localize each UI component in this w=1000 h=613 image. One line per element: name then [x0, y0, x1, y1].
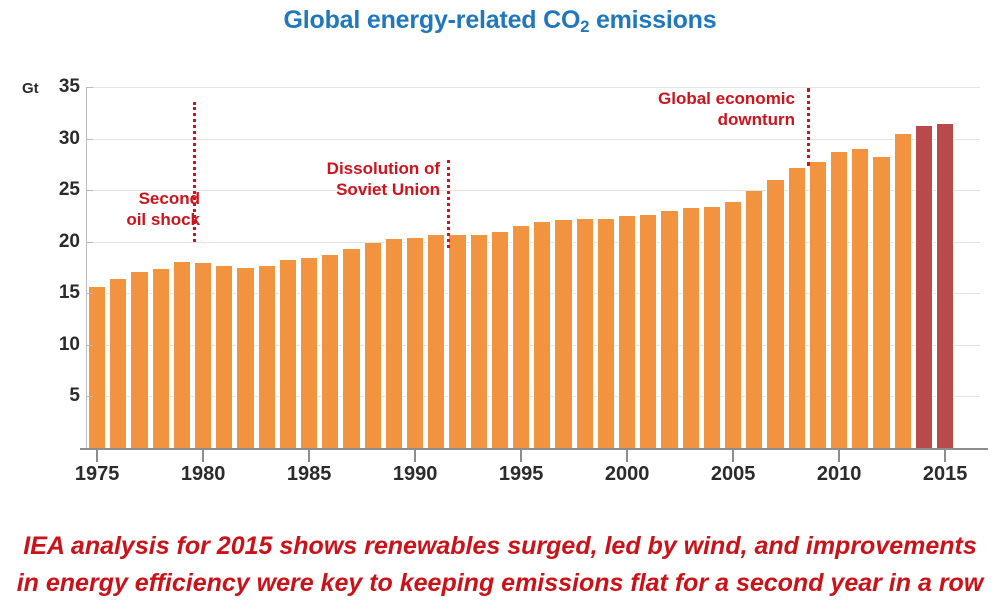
x-tick-mark	[838, 450, 840, 462]
x-tick-mark	[944, 450, 946, 462]
caption-line-2: in energy efficiency were key to keeping…	[0, 565, 1000, 602]
y-tick-mark	[86, 87, 93, 88]
bar-1987[interactable]	[342, 249, 360, 448]
bar-1990[interactable]	[406, 238, 424, 448]
bar-1988[interactable]	[364, 243, 382, 448]
x-tick-label: 2005	[711, 463, 756, 486]
y-tick-label: 15	[46, 282, 80, 304]
bar-2006[interactable]	[745, 191, 763, 448]
bar-2012[interactable]	[872, 157, 890, 448]
x-tick-mark	[626, 450, 628, 462]
x-tick-label: 1985	[287, 463, 332, 486]
y-tick-mark	[86, 396, 93, 397]
x-tick-mark	[732, 450, 734, 462]
bar-2004[interactable]	[703, 207, 721, 448]
bar-1998[interactable]	[576, 219, 594, 448]
bar-2002[interactable]	[660, 211, 678, 448]
chart-page: Global energy-related CO2 emissions Gt 5…	[0, 0, 1000, 613]
annotation-dissolution-of-soviet-union: Dissolution of Soviet Union	[288, 158, 440, 200]
bar-2014[interactable]	[915, 126, 933, 448]
y-axis-line	[86, 87, 87, 448]
gridline	[88, 139, 980, 140]
bar-1977[interactable]	[130, 272, 148, 448]
bar-1981[interactable]	[215, 266, 233, 448]
page-title: Global energy-related CO2 emissions	[0, 6, 1000, 35]
annotation-global-economic-downturn: Global economic downturn	[620, 88, 795, 130]
bar-1997[interactable]	[554, 220, 572, 448]
y-tick-label: 30	[46, 128, 80, 150]
bar-1985[interactable]	[300, 258, 318, 448]
x-tick-label: 1990	[393, 463, 438, 486]
x-tick-mark	[96, 450, 98, 462]
y-axis-unit-label: Gt	[22, 80, 39, 97]
bar-1995[interactable]	[512, 226, 530, 448]
bar-1996[interactable]	[533, 222, 551, 448]
annotation-marker-global-economic-downturn	[807, 88, 810, 166]
y-tick-mark	[86, 293, 93, 294]
bar-1982[interactable]	[236, 268, 254, 449]
x-tick-label: 1980	[181, 463, 226, 486]
bar-1992[interactable]	[448, 235, 466, 449]
bar-1999[interactable]	[597, 219, 615, 448]
x-tick-label: 2000	[605, 463, 650, 486]
bar-2005[interactable]	[724, 202, 742, 449]
x-tick-label: 1975	[75, 463, 120, 486]
x-tick-mark	[308, 450, 310, 462]
x-tick-mark	[202, 450, 204, 462]
y-tick-mark	[86, 345, 93, 346]
chart-caption: IEA analysis for 2015 shows renewables s…	[0, 528, 1000, 602]
bar-1986[interactable]	[321, 255, 339, 448]
annotation-marker-second-oil-shock	[193, 102, 196, 242]
x-axis-baseline	[80, 448, 988, 450]
bar-2007[interactable]	[766, 180, 784, 448]
annotation-marker-dissolution-of-soviet-union	[447, 160, 450, 248]
bar-1980[interactable]	[194, 263, 212, 448]
bar-1983[interactable]	[258, 266, 276, 448]
bar-2013[interactable]	[894, 134, 912, 448]
bar-1989[interactable]	[385, 239, 403, 448]
bar-1994[interactable]	[491, 232, 509, 448]
x-tick-label: 1995	[499, 463, 544, 486]
bar-1978[interactable]	[152, 269, 170, 448]
y-tick-label: 35	[46, 76, 80, 98]
y-tick-mark	[86, 139, 93, 140]
x-tick-label: 2015	[923, 463, 968, 486]
bar-1979[interactable]	[173, 262, 191, 448]
annotation-second-oil-shock: Second oil shock	[80, 188, 200, 230]
y-tick-label: 5	[46, 385, 80, 407]
bar-2011[interactable]	[851, 149, 869, 448]
y-tick-label: 10	[46, 334, 80, 356]
bar-1984[interactable]	[279, 260, 297, 448]
bar-2008[interactable]	[788, 168, 806, 448]
bar-1991[interactable]	[427, 235, 445, 449]
title-prefix: Global energy-related CO	[284, 6, 581, 34]
bar-2015[interactable]	[936, 124, 954, 448]
y-tick-mark	[86, 242, 93, 243]
title-subscript: 2	[580, 18, 589, 36]
x-tick-mark	[414, 450, 416, 462]
y-axis: 5101520253035	[40, 0, 80, 613]
y-tick-label: 20	[46, 231, 80, 253]
bar-2010[interactable]	[830, 152, 848, 448]
title-suffix: emissions	[589, 6, 716, 34]
bar-1975[interactable]	[88, 287, 106, 448]
x-tick-label: 2010	[817, 463, 862, 486]
bar-1993[interactable]	[470, 235, 488, 449]
y-tick-label: 25	[46, 179, 80, 201]
gridline	[88, 87, 980, 88]
bar-2009[interactable]	[809, 162, 827, 448]
x-tick-mark	[520, 450, 522, 462]
bar-2003[interactable]	[682, 208, 700, 448]
bar-2000[interactable]	[618, 216, 636, 448]
bar-1976[interactable]	[109, 279, 127, 448]
plot-area	[88, 87, 980, 448]
caption-line-1: IEA analysis for 2015 shows renewables s…	[0, 528, 1000, 565]
bar-2001[interactable]	[639, 215, 657, 448]
